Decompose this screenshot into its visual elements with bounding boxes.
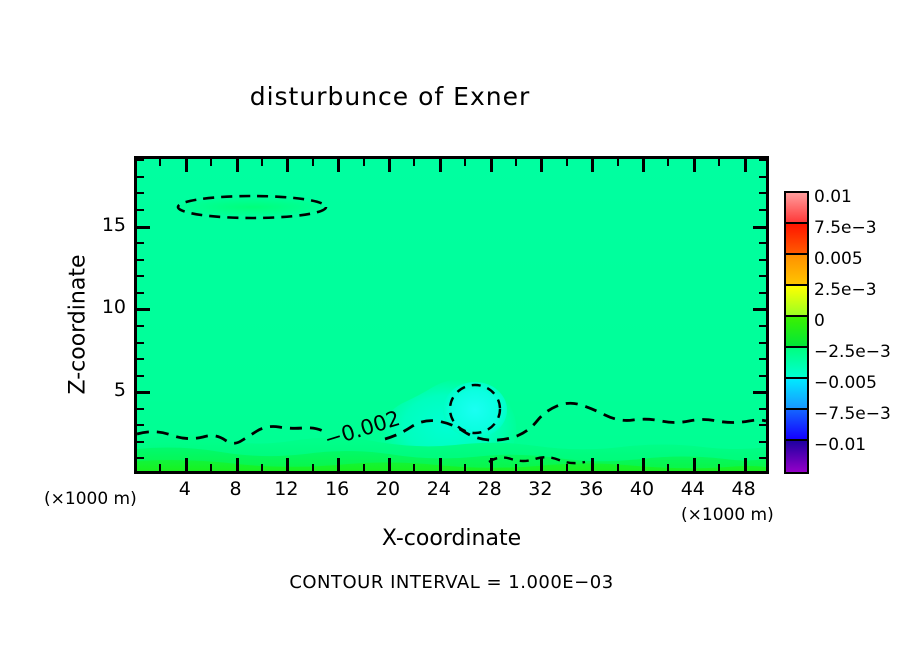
tick-mark [236,458,239,471]
tick-mark [464,159,466,166]
tick-mark [667,159,669,166]
tick-mark [759,408,766,410]
tick-mark [693,458,696,471]
tick-mark [490,458,493,471]
tick-mark [490,159,493,172]
colorbar-tick-label: −0.01 [814,435,866,455]
tick-mark [744,458,747,471]
tick-mark [388,159,391,172]
colorbar-tick-label: 2.5e−3 [814,280,877,300]
colorbar-band [786,410,807,441]
tick-mark [515,159,517,166]
contour-plot-area: −0.002 [134,156,769,474]
tick-mark [617,464,619,471]
colorbar-tick-label: 0.01 [814,187,852,207]
page-title: disturbunce of Exner [0,82,780,111]
tick-mark [642,458,645,471]
tick-mark [210,464,212,471]
colorbar-band [786,224,807,255]
tick-mark [137,209,144,211]
tick-mark [137,375,144,377]
tick-mark [137,457,144,459]
tick-mark [137,242,144,244]
colorbar-tick-label: 0 [814,311,825,331]
tick-mark [388,458,391,471]
y-tick-label: 15 [92,214,126,236]
tick-mark [137,424,144,426]
colorbar-band [786,348,807,379]
tick-mark [617,159,619,166]
colorbar [784,191,809,474]
tick-mark [540,159,543,172]
tick-mark [137,226,150,229]
tick-mark [566,464,568,471]
colorbar-tick-label: −7.5e−3 [814,404,891,424]
tick-mark [137,292,144,294]
colorbar-tick-label: −2.5e−3 [814,342,891,362]
tick-mark [667,464,669,471]
colorbar-tick-label: 0.005 [814,249,863,269]
y-axis-title: Z-coordinate [66,205,91,445]
y-tick-label: 10 [92,296,126,318]
tick-mark [693,159,696,172]
tick-mark [363,159,365,166]
tick-mark [759,192,766,194]
tick-mark [515,464,517,471]
tick-mark [718,464,720,471]
colorbar-band [786,317,807,348]
colorbar-band [786,255,807,286]
tick-mark [137,391,150,394]
tick-mark [363,464,365,471]
contour-field: −0.002 [137,159,766,471]
contour-interval-caption: CONTOUR INTERVAL = 1.000E−03 [134,572,769,593]
tick-mark [540,458,543,471]
tick-mark [337,458,340,471]
tick-mark [566,159,568,166]
tick-mark [137,259,144,261]
colorbar-tick-label: 7.5e−3 [814,218,877,238]
tick-mark [413,159,415,166]
tick-mark [312,464,314,471]
tick-mark [439,458,442,471]
colorbar-band [786,286,807,317]
x-axis-title: X-coordinate [134,526,769,551]
tick-mark [759,325,766,327]
figure-canvas: disturbunce of Exner [0,0,904,654]
tick-mark [137,159,144,161]
tick-mark [591,159,594,172]
tick-mark [753,391,766,394]
tick-mark [185,159,188,172]
tick-mark [753,308,766,311]
tick-mark [312,159,314,166]
colorbar-band [786,441,807,472]
tick-mark [159,464,161,471]
tick-mark [718,159,720,166]
y-tick-label: 5 [92,379,126,401]
tick-mark [286,458,289,471]
tick-mark [210,159,212,166]
tick-mark [286,159,289,172]
colorbar-band [786,379,807,410]
tick-mark [261,464,263,471]
tick-mark [759,342,766,344]
tick-mark [137,275,144,277]
tick-mark [759,441,766,443]
tick-mark [759,259,766,261]
colorbar-tick-label: −0.005 [814,373,877,393]
x-tick-label: 48 [714,478,774,500]
tick-mark [159,159,161,166]
tick-mark [759,275,766,277]
tick-mark [137,342,144,344]
tick-mark [759,242,766,244]
tick-mark [744,159,747,172]
tick-mark [759,292,766,294]
tick-mark [759,457,766,459]
tick-mark [137,192,144,194]
x-axis-unit-label: (×1000 m) [681,505,774,525]
tick-mark [137,441,144,443]
tick-mark [236,159,239,172]
tick-mark [759,176,766,178]
tick-mark [137,325,144,327]
tick-mark [591,458,594,471]
tick-mark [439,159,442,172]
tick-mark [759,424,766,426]
tick-mark [185,458,188,471]
tick-mark [137,176,144,178]
tick-mark [759,209,766,211]
colorbar-band [786,193,807,224]
tick-mark [759,375,766,377]
tick-mark [137,308,150,311]
tick-mark [337,159,340,172]
tick-mark [759,159,766,161]
tick-mark [753,226,766,229]
tick-mark [464,464,466,471]
tick-mark [642,159,645,172]
y-axis-unit-label: (×1000 m) [44,489,137,509]
tick-mark [137,358,144,360]
tick-mark [261,159,263,166]
tick-mark [137,408,144,410]
tick-mark [413,464,415,471]
tick-mark [759,358,766,360]
